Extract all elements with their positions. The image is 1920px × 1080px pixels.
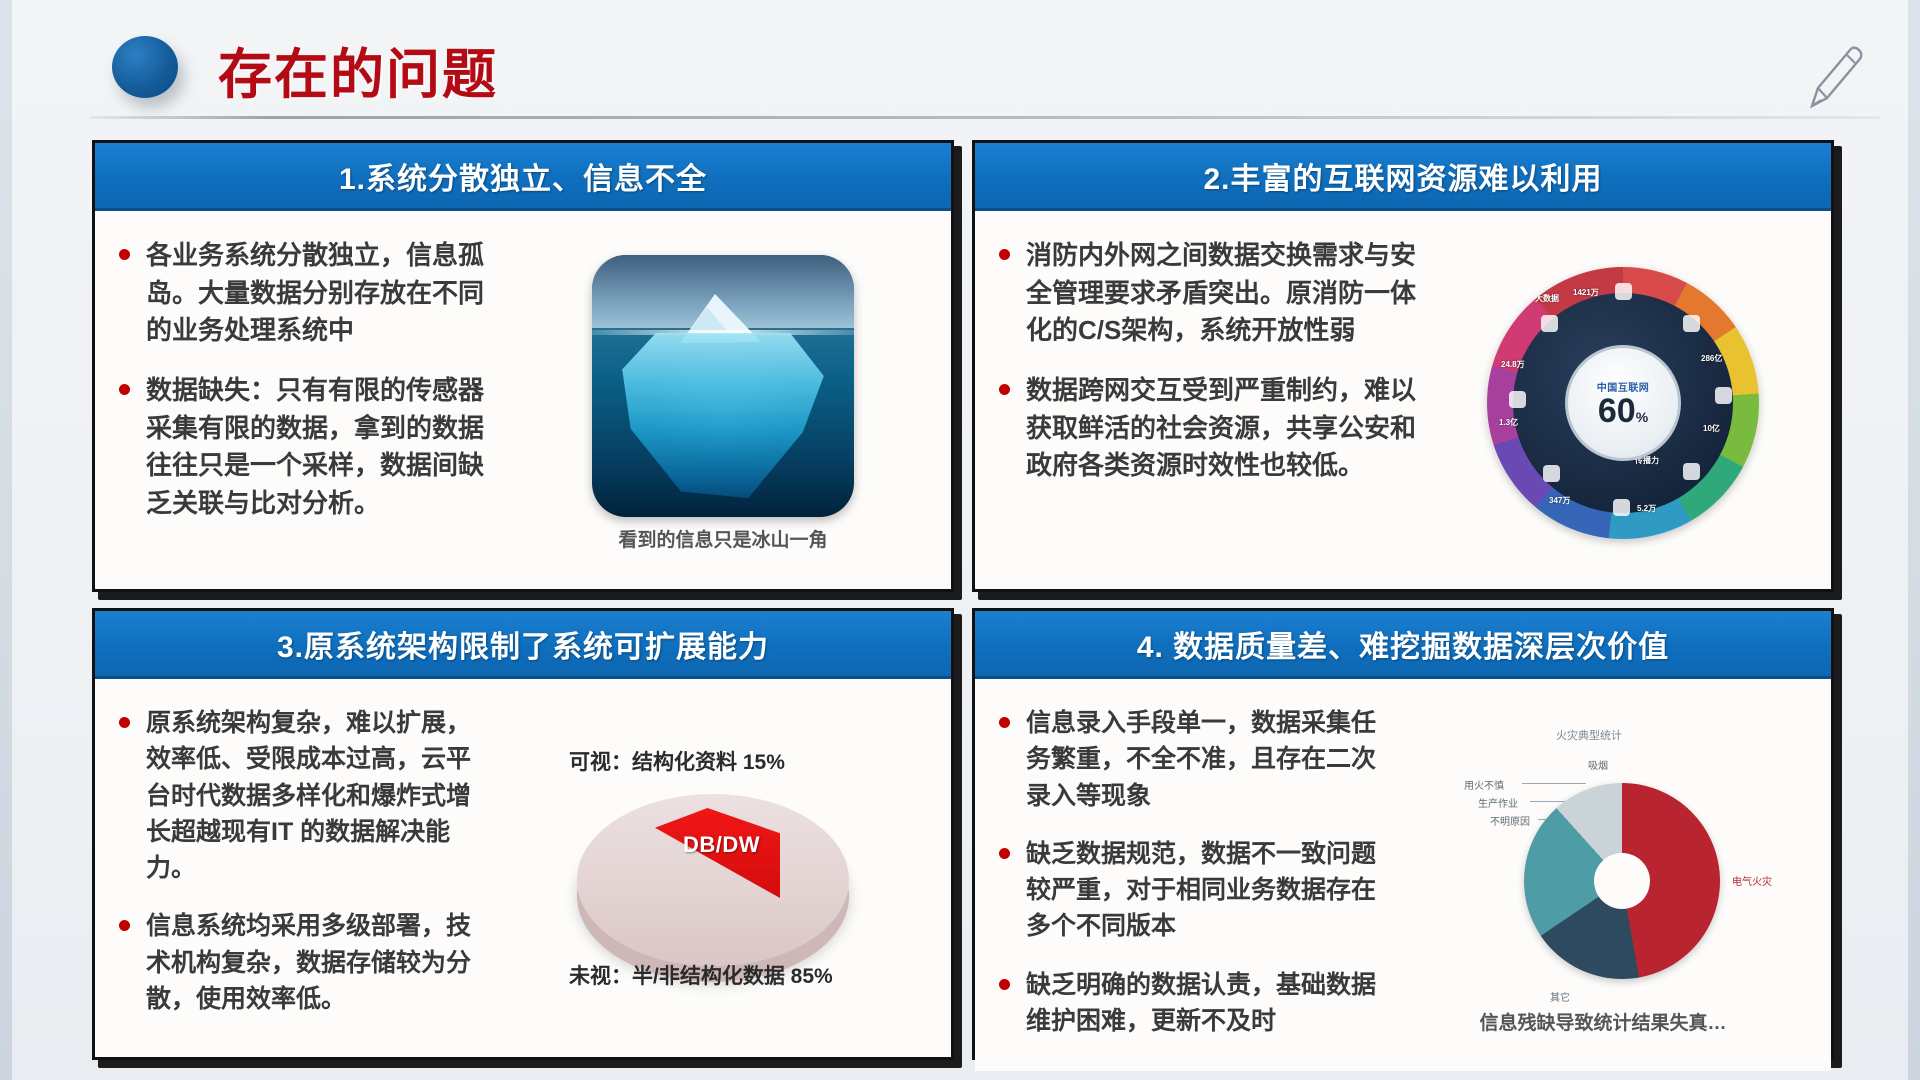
panel-4: 4. 数据质量差、难挖掘数据深层次价值 信息录入手段单一，数据采集任务繁重，不全… <box>972 608 1834 1060</box>
bullet-dot-icon <box>999 979 1010 990</box>
donut-tile <box>1715 387 1732 404</box>
panel-2-bullet-list: 消防内外网之间数据交换需求与安全管理要求矛盾突出。原消防一体化的C/S架构，系统… <box>989 227 1429 579</box>
panel-3-media: 可视：结构化资料 15% DB/DW 未视：半/非结构化数据 85% <box>489 695 937 1047</box>
panel-3-body: 原系统架构复杂，难以扩展，效率低、受限成本过高，云平台时代数据多样化和爆炸式增长… <box>95 679 951 1057</box>
donut-segment-label: 大数据 <box>1535 293 1559 304</box>
panel-1-frame: 1.系统分散独立、信息不全 各业务系统分散独立，信息孤岛。大量数据分别存放在不同… <box>92 140 954 592</box>
donut-segment-label: 286亿 <box>1701 353 1722 364</box>
panel-4-media: 火灾典型统计 用火不慎 生产作业 不明原因 吸烟 电气火灾 其它 信息残缺导致统… <box>1389 695 1817 1061</box>
list-item: 消防内外网之间数据交换需求与安全管理要求矛盾突出。原消防一体化的C/S架构，系统… <box>989 237 1429 350</box>
bullet-text: 数据跨网交互受到严重制约，难以获取鲜活的社会资源，共享公安和政府各类资源时效性也… <box>1026 372 1429 485</box>
panel-2-media: 1421万 286亿 10亿 5.2万 347万 1.3亿 24.8万 大数据 … <box>1429 227 1817 579</box>
donut-center-value: 中国互联网 60% <box>1565 345 1681 461</box>
panel-4-frame: 4. 数据质量差、难挖掘数据深层次价值 信息录入手段单一，数据采集任务繁重，不全… <box>972 608 1834 1060</box>
panel-1-heading: 1.系统分散独立、信息不全 <box>95 143 951 211</box>
structured-data-pie: 可视：结构化资料 15% DB/DW 未视：半/非结构化数据 85% <box>563 746 863 996</box>
list-item: 信息录入手段单一，数据采集任务繁重，不全不准，且存在二次录入等现象 <box>989 705 1389 814</box>
donut-segment-label: 10亿 <box>1703 423 1720 434</box>
bullet-text: 缺乏明确的数据认责，基础数据维护困难，更新不及时 <box>1026 967 1389 1040</box>
panel-2-frame: 2.丰富的互联网资源难以利用 消防内外网之间数据交换需求与安全管理要求矛盾突出。… <box>972 140 1834 592</box>
bullet-text: 原系统架构复杂，难以扩展，效率低、受限成本过高，云平台时代数据多样化和爆炸式增长… <box>146 705 489 886</box>
chart-title: 火灾典型统计 <box>1556 727 1622 743</box>
list-item: 信息系统均采用多级部署，技术机构复杂，数据存储较为分散，使用效率低。 <box>109 908 489 1017</box>
bullet-dot-icon <box>999 717 1010 728</box>
pie-label-visible: 可视：结构化资料 15% <box>569 746 785 776</box>
donut-segment-label: 5.2万 <box>1637 503 1656 514</box>
donut-center-number: 60 <box>1598 392 1636 430</box>
bullet-dot-icon <box>119 384 130 395</box>
panel-1-body: 各业务系统分散独立，信息孤岛。大量数据分别存放在不同的业务处理系统中 数据缺失：… <box>95 211 951 589</box>
panel-2-heading: 2.丰富的互联网资源难以利用 <box>975 143 1831 211</box>
donut-ring <box>1524 783 1720 979</box>
list-item: 原系统架构复杂，难以扩展，效率低、受限成本过高，云平台时代数据多样化和爆炸式增长… <box>109 705 489 886</box>
list-item: 各业务系统分散独立，信息孤岛。大量数据分别存放在不同的业务处理系统中 <box>109 237 509 350</box>
bullet-text: 各业务系统分散独立，信息孤岛。大量数据分别存放在不同的业务处理系统中 <box>146 237 509 350</box>
bullet-text: 消防内外网之间数据交换需求与安全管理要求矛盾突出。原消防一体化的C/S架构，系统… <box>1026 237 1429 350</box>
bullet-text: 缺乏数据规范，数据不一致问题较严重，对于相同业务数据存在多个不同版本 <box>1026 836 1389 945</box>
bullet-dot-icon <box>999 384 1010 395</box>
left-edge-bar <box>0 0 12 1080</box>
bullet-dot-icon <box>999 249 1010 260</box>
pie-slice-label: DB/DW <box>683 832 760 858</box>
panel-2: 2.丰富的互联网资源难以利用 消防内外网之间数据交换需求与安全管理要求矛盾突出。… <box>972 140 1834 592</box>
bullet-text: 数据缺失：只有有限的传感器采集有限的数据，拿到的数据往往只是一个采样，数据间缺乏… <box>146 372 509 523</box>
donut-segment-label: 347万 <box>1549 495 1570 506</box>
donut-segment-label: 1421万 <box>1573 287 1599 298</box>
bullet-dot-icon <box>999 848 1010 859</box>
chart-annotation: 用火不慎 <box>1464 777 1504 792</box>
list-item: 缺乏数据规范，数据不一致问题较严重，对于相同业务数据存在多个不同版本 <box>989 836 1389 945</box>
donut-center-unit: % <box>1636 409 1648 425</box>
iceberg-underwater-mass <box>618 333 828 498</box>
panel-2-body: 消防内外网之间数据交换需求与安全管理要求矛盾突出。原消防一体化的C/S架构，系统… <box>975 211 1831 589</box>
chart-annotation-bottom: 其它 <box>1550 989 1570 1004</box>
bullet-dot-icon <box>119 717 130 728</box>
panel-3-frame: 3.原系统架构限制了系统可扩展能力 原系统架构复杂，难以扩展，效率低、受限成本过… <box>92 608 954 1060</box>
pen-icon <box>1802 42 1868 112</box>
slide-canvas: 存在的问题 1.系统分散独立、信息不全 各业务系统分散独立，信息孤岛。大量数据分… <box>0 0 1920 1080</box>
chart-caption: 信息残缺导致统计结果失真… <box>1438 1008 1768 1035</box>
donut-tile <box>1613 499 1630 516</box>
panel-3: 3.原系统架构限制了系统可扩展能力 原系统架构复杂，难以扩展，效率低、受限成本过… <box>92 608 954 1060</box>
donut-tile <box>1541 315 1558 332</box>
blue-circle-bullet-icon <box>112 36 178 98</box>
panel-1-bullet-list: 各业务系统分散独立，信息孤岛。大量数据分别存放在不同的业务处理系统中 数据缺失：… <box>109 227 509 579</box>
panel-1: 1.系统分散独立、信息不全 各业务系统分散独立，信息孤岛。大量数据分别存放在不同… <box>92 140 954 592</box>
iceberg-image <box>592 255 854 517</box>
page-title: 存在的问题 <box>218 30 498 109</box>
donut-tile <box>1509 391 1526 408</box>
panel-4-body: 信息录入手段单一，数据采集任务繁重，不全不准，且存在二次录入等现象 缺乏数据规范… <box>975 679 1831 1071</box>
panel-3-bullet-list: 原系统架构复杂，难以扩展，效率低、受限成本过高，云平台时代数据多样化和爆炸式增长… <box>109 695 489 1047</box>
chart-annotation: 生产作业 <box>1478 795 1518 810</box>
list-item: 数据缺失：只有有限的传感器采集有限的数据，拿到的数据往往只是一个采样，数据间缺乏… <box>109 372 509 523</box>
chart-annotation-right: 电气火灾 <box>1732 873 1772 888</box>
donut-tile <box>1615 283 1632 300</box>
header-divider <box>90 116 1880 119</box>
right-edge-bar <box>1908 0 1920 1080</box>
donut-tile <box>1543 465 1560 482</box>
chart-annotation: 吸烟 <box>1588 757 1608 772</box>
panel-4-bullet-list: 信息录入手段单一，数据采集任务繁重，不全不准，且存在二次录入等现象 缺乏数据规范… <box>989 695 1389 1061</box>
internet-resource-donut: 1421万 286亿 10亿 5.2万 347万 1.3亿 24.8万 大数据 … <box>1487 267 1759 539</box>
bullet-dot-icon <box>119 249 130 260</box>
problem-panels-grid: 1.系统分散独立、信息不全 各业务系统分散独立，信息孤岛。大量数据分别存放在不同… <box>92 140 1834 1060</box>
list-item: 数据跨网交互受到严重制约，难以获取鲜活的社会资源，共享公安和政府各类资源时效性也… <box>989 372 1429 485</box>
donut-segment-label: 1.3亿 <box>1499 417 1518 428</box>
chart-leader-line <box>1522 783 1586 784</box>
chart-annotation: 不明原因 <box>1490 813 1530 828</box>
bullet-text: 信息系统均采用多级部署，技术机构复杂，数据存储较为分散，使用效率低。 <box>146 908 489 1017</box>
list-item: 缺乏明确的数据认责，基础数据维护困难，更新不及时 <box>989 967 1389 1040</box>
pie-label-unseen: 未视：半/非结构化数据 85% <box>569 960 833 990</box>
donut-tile <box>1683 463 1700 480</box>
bullet-dot-icon <box>119 920 130 931</box>
data-quality-donut: 火灾典型统计 用火不慎 生产作业 不明原因 吸烟 电气火灾 其它 信息残缺导致统… <box>1438 723 1768 1033</box>
donut-tile <box>1683 315 1700 332</box>
panel-4-heading: 4. 数据质量差、难挖掘数据深层次价值 <box>975 611 1831 679</box>
panel-1-media: 看到的信息只是冰山一角 <box>509 227 937 579</box>
slide-header: 存在的问题 <box>0 0 1920 122</box>
iceberg-caption: 看到的信息只是冰山一角 <box>618 525 827 552</box>
bullet-text: 信息录入手段单一，数据采集任务繁重，不全不准，且存在二次录入等现象 <box>1026 705 1389 814</box>
donut-segment-label: 24.8万 <box>1501 359 1525 370</box>
panel-3-heading: 3.原系统架构限制了系统可扩展能力 <box>95 611 951 679</box>
